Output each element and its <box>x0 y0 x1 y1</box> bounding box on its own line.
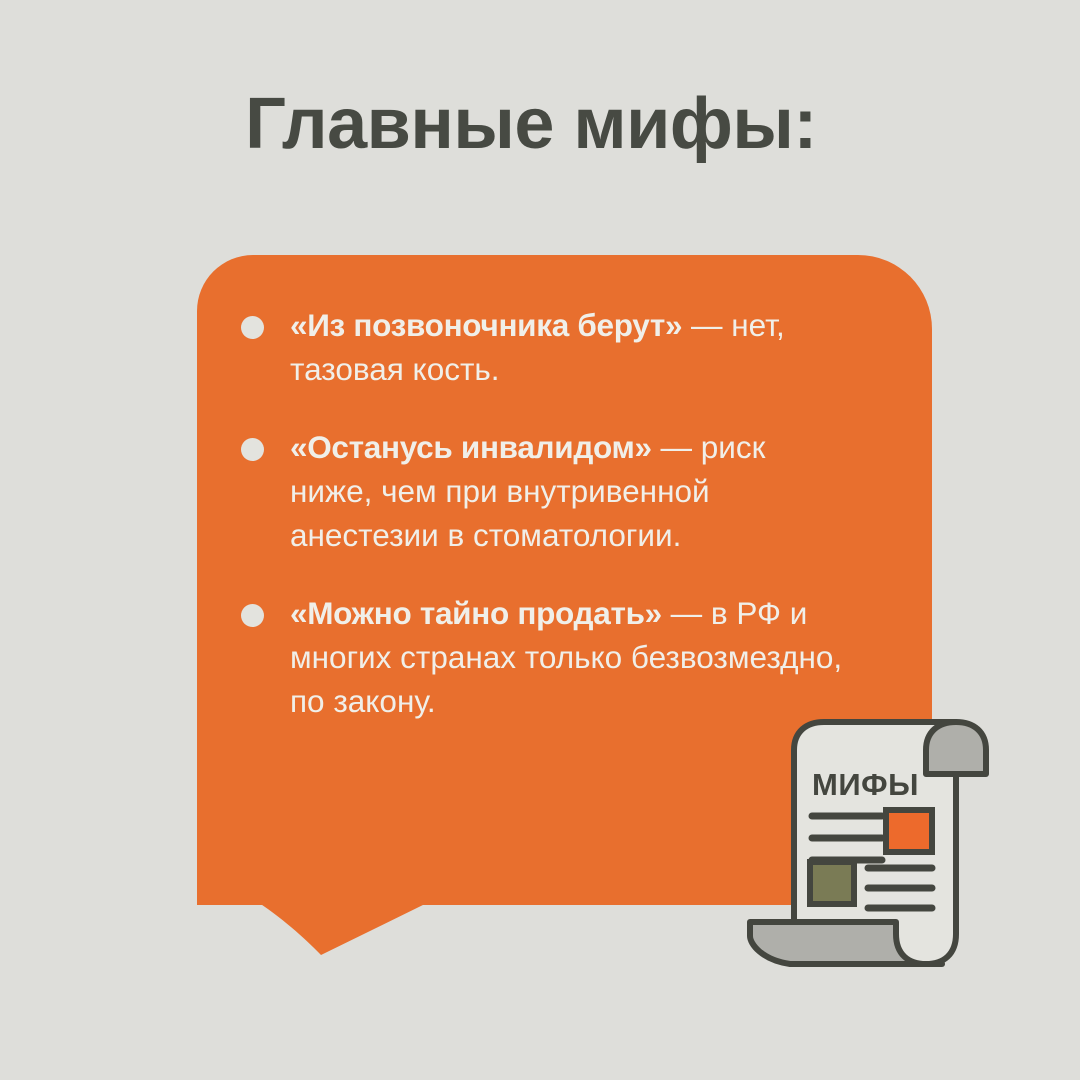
myth-text: «Можно тайно продать» — в РФ и многих ст… <box>290 591 850 723</box>
myth-dash: — <box>682 307 731 343</box>
myths-list: «Из позвоночника берут» — нет, тазовая к… <box>197 255 932 757</box>
myth-dash: — <box>652 429 701 465</box>
myth-quote: «Из позвоночника берут» <box>290 307 682 343</box>
scroll-heading: МИФЫ <box>812 767 919 802</box>
myth-text: «Останусь инвалидом» — риск ниже, чем пр… <box>290 425 850 557</box>
list-item: «Останусь инвалидом» — риск ниже, чем пр… <box>197 425 932 557</box>
scroll-orange-square-icon <box>886 810 932 852</box>
scroll-document-illustration: МИФЫ <box>742 712 1032 990</box>
myth-quote: «Можно тайно продать» <box>290 595 662 631</box>
myth-quote: «Останусь инвалидом» <box>290 429 652 465</box>
bullet-dot-icon <box>241 604 264 627</box>
infographic-canvas: Главные мифы: «Из позвоночника берут» — … <box>0 0 1080 1080</box>
bullet-dot-icon <box>241 438 264 461</box>
myth-dash: — <box>662 595 711 631</box>
myth-text: «Из позвоночника берут» — нет, тазовая к… <box>290 303 850 391</box>
page-title: Главные мифы: <box>0 88 1080 160</box>
list-item: «Можно тайно продать» — в РФ и многих ст… <box>197 591 932 723</box>
bullet-dot-icon <box>241 316 264 339</box>
scroll-olive-square-icon <box>810 862 854 904</box>
list-item: «Из позвоночника берут» — нет, тазовая к… <box>197 303 932 391</box>
scroll-top-curl-icon <box>926 722 986 774</box>
